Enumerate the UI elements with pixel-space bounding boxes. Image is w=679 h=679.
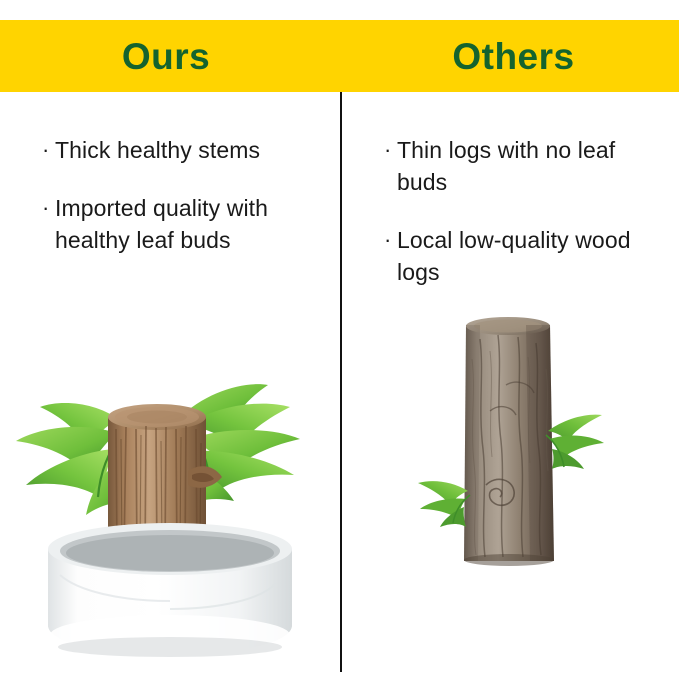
header-cell-ours: Ours (0, 20, 340, 92)
bullet-dot-icon: · (42, 134, 54, 166)
bullet-dot-icon: · (384, 224, 396, 256)
list-item: · Thin logs with no leaf buds (384, 134, 653, 198)
ceramic-pot (48, 523, 292, 657)
bullet-text: Local low-quality wood logs (397, 224, 653, 288)
comparison-infographic: Ours Others · Thick healthy stems · Impo… (0, 0, 679, 679)
sprout-right (546, 415, 604, 469)
bullet-text: Imported quality with healthy leaf buds (55, 192, 314, 256)
product-image-ours (0, 299, 340, 679)
list-item: · Thick healthy stems (42, 134, 314, 166)
list-item: · Local low-quality wood logs (384, 224, 653, 288)
column-others: · Thin logs with no leaf buds · Local lo… (340, 92, 679, 679)
header-title-others: Others (452, 38, 574, 75)
header-title-ours: Ours (122, 38, 210, 75)
comparison-columns: · Thick healthy stems · Imported quality… (0, 92, 679, 679)
bullet-dot-icon: · (384, 134, 396, 166)
bullet-text: Thin logs with no leaf buds (397, 134, 653, 198)
product-image-others (340, 299, 679, 679)
bullet-text: Thick healthy stems (55, 134, 260, 166)
bullet-list-ours: · Thick healthy stems · Imported quality… (0, 134, 340, 282)
column-ours: · Thick healthy stems · Imported quality… (0, 92, 340, 679)
bullet-list-others: · Thin logs with no leaf buds · Local lo… (340, 134, 679, 314)
sprout-left (418, 481, 470, 527)
bullet-dot-icon: · (42, 192, 54, 224)
header-band: Ours Others (0, 20, 679, 92)
list-item: · Imported quality with healthy leaf bud… (42, 192, 314, 256)
header-cell-others: Others (340, 20, 679, 92)
wood-log-thin (464, 317, 554, 566)
